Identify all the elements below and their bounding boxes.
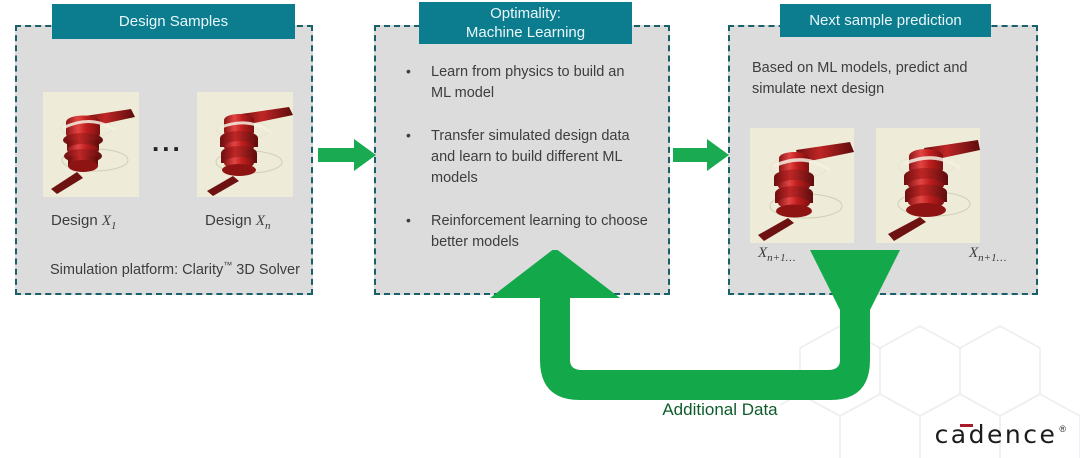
design-label-prefix: Design [205, 212, 256, 229]
design-sample-1-label: Design X1 [51, 212, 117, 232]
design-sample-1-image [43, 92, 139, 197]
design-label-var: X [256, 213, 265, 229]
design-label-sub: 1 [111, 220, 117, 232]
prediction-description: Based on ML models, predict and simulate… [752, 58, 1020, 100]
predicted-sample-2-image [876, 128, 980, 243]
ellipsis-between-samples: ... [152, 132, 190, 152]
panel-header-optimality-line1: Optimality: [466, 4, 585, 23]
design-label-prefix: Design [51, 212, 102, 229]
cadence-logo-wordmark: cadence [935, 422, 1058, 448]
bullet-item: Reinforcement learning to choose better … [398, 211, 648, 253]
simulation-platform-caption: Simulation platform: Clarity™ 3D Solver [50, 255, 300, 281]
arrow-optimality-to-prediction [673, 137, 731, 173]
optimality-bullet-list: Learn from physics to build an ML model … [398, 62, 648, 275]
design-label-var: X [102, 213, 111, 229]
caption-after-text: 3D Solver [232, 262, 300, 278]
cadence-logo: cadence ® [935, 422, 1066, 448]
design-sample-n-image [197, 92, 293, 197]
panel-header-next-sample-prediction-label: Next sample prediction [809, 11, 962, 30]
design-sample-n-label: Design Xn [205, 212, 271, 232]
cadence-logo-macron-icon [960, 424, 973, 427]
bullet-item: Learn from physics to build an ML model [398, 62, 648, 104]
panel-header-optimality: Optimality: Machine Learning [419, 2, 632, 44]
predicted-label-sub: n+1… [978, 252, 1006, 264]
bullet-item: Transfer simulated design data and learn… [398, 126, 648, 189]
registered-trademark-symbol: ® [1059, 424, 1066, 434]
caption-before-text: Simulation platform: Clarity [50, 262, 223, 278]
arrow-design-to-optimality [318, 137, 378, 173]
additional-data-feedback-arrow [470, 250, 900, 450]
predicted-sample-2-label: Xn+1… [969, 244, 1006, 264]
panel-header-design-samples-label: Design Samples [119, 12, 228, 31]
panel-header-next-sample-prediction: Next sample prediction [780, 4, 991, 37]
design-label-sub: n [265, 220, 271, 232]
predicted-label-var: X [969, 245, 978, 261]
trademark-symbol: ™ [223, 260, 232, 270]
panel-header-design-samples: Design Samples [52, 4, 295, 39]
predicted-sample-1-image [750, 128, 854, 243]
diagram-canvas: Design Samples [0, 0, 1080, 458]
panel-header-optimality-line2: Machine Learning [466, 23, 585, 42]
